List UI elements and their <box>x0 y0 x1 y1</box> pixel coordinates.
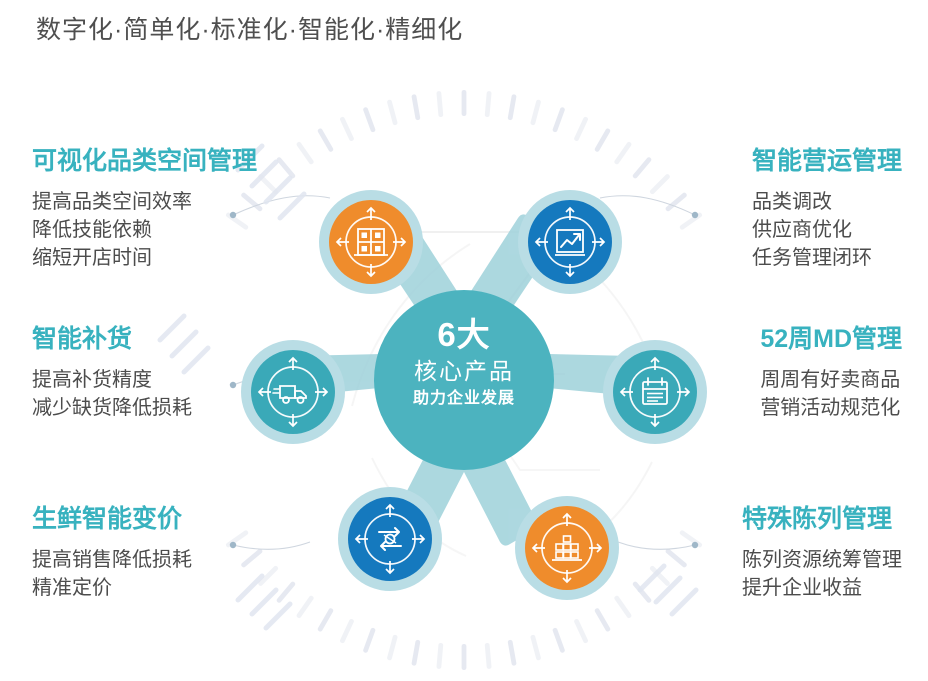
info-block-fifty-two-week-md[interactable]: 52周MD管理 周周有好卖商品 营销活动规范化 <box>760 326 902 422</box>
node-halo <box>241 340 345 444</box>
center-hub[interactable] <box>374 290 554 470</box>
block-line: 减少缺货降低损耗 <box>32 394 192 422</box>
block-line: 提升企业收益 <box>742 574 902 602</box>
node-circle <box>525 506 609 590</box>
node-smart-operations[interactable] <box>518 190 622 294</box>
block-line: 任务管理闭环 <box>752 244 902 272</box>
trend-chart-icon <box>536 208 604 276</box>
info-block-special-display[interactable]: 特殊陈列管理 陈列资源统筹管理 提升企业收益 <box>742 506 902 602</box>
node-smart-replenishment[interactable] <box>241 340 345 444</box>
block-line: 品类调改 <box>752 188 902 216</box>
stacked-boxes-icon <box>533 514 601 582</box>
hub-line-2: 核心产品 <box>389 360 539 383</box>
node-halo <box>338 487 442 591</box>
hub-connectors <box>290 214 638 545</box>
hatch-decor-bottom-right <box>640 566 696 614</box>
node-halo <box>603 340 707 444</box>
node-circle <box>613 350 697 434</box>
hub-line-1: 6大 <box>389 318 539 351</box>
block-line: 提高补货精度 <box>32 366 192 394</box>
page-title: 数字化·简单化·标准化·智能化·精细化 <box>36 10 463 46</box>
node-circle <box>251 350 335 434</box>
node-visual-category-space[interactable] <box>319 190 423 294</box>
info-block-smart-replenishment[interactable]: 智能补货 提高补货精度 减少缺货降低损耗 <box>32 326 192 422</box>
node-fifty-two-week-md[interactable] <box>603 340 707 444</box>
shelf-planogram-icon <box>337 208 405 276</box>
node-circle <box>528 200 612 284</box>
block-line: 周周有好卖商品 <box>760 366 902 394</box>
delivery-truck-icon <box>259 358 327 426</box>
block-lines: 提高品类空间效率 降低技能依赖 缩短开店时间 <box>32 188 257 273</box>
block-line: 陈列资源统筹管理 <box>742 546 902 574</box>
block-line: 降低技能依赖 <box>32 216 257 244</box>
block-lines: 周周有好卖商品 营销活动规范化 <box>760 366 902 423</box>
node-halo <box>518 190 622 294</box>
node-halo <box>319 190 423 294</box>
label-connector-lines <box>233 196 695 550</box>
block-lines: 陈列资源统筹管理 提升企业收益 <box>742 546 902 603</box>
block-line: 缩短开店时间 <box>32 244 257 272</box>
block-lines: 品类调改 供应商优化 任务管理闭环 <box>752 188 902 273</box>
block-lines: 提高销售降低损耗 精准定价 <box>32 546 192 603</box>
block-title: 可视化品类空间管理 <box>32 148 257 176</box>
node-circle <box>348 497 432 581</box>
connector-dots <box>230 212 698 548</box>
block-title: 52周MD管理 <box>760 326 902 354</box>
block-line: 营销活动规范化 <box>760 394 902 422</box>
block-line: 精准定价 <box>32 574 192 602</box>
hatch-decor-bottom-left <box>238 576 290 628</box>
node-special-display[interactable] <box>515 496 619 600</box>
block-line: 提高品类空间效率 <box>32 188 257 216</box>
tick-ring <box>225 90 703 670</box>
node-circle <box>329 200 413 284</box>
price-exchange-icon <box>356 505 424 573</box>
block-title: 智能营运管理 <box>752 148 902 176</box>
block-line: 提高销售降低损耗 <box>32 546 192 574</box>
info-block-fresh-smart-pricing[interactable]: 生鲜智能变价 提高销售降低损耗 精准定价 <box>32 506 192 602</box>
info-block-smart-operations[interactable]: 智能营运管理 品类调改 供应商优化 任务管理闭环 <box>752 148 902 273</box>
block-title: 智能补货 <box>32 326 192 354</box>
hub-line-3: 助力企业发展 <box>389 391 539 407</box>
hub-circle <box>374 290 554 470</box>
block-title: 特殊陈列管理 <box>742 506 902 534</box>
block-title: 生鲜智能变价 <box>32 506 192 534</box>
calendar-icon <box>621 358 689 426</box>
hub-label-group: 6大 核心产品 助力企业发展 <box>389 318 539 407</box>
node-fresh-smart-pricing[interactable] <box>338 487 442 591</box>
node-halo <box>515 496 619 600</box>
block-line: 供应商优化 <box>752 216 902 244</box>
watermark-shape <box>352 232 664 556</box>
block-lines: 提高补货精度 减少缺货降低损耗 <box>32 366 192 423</box>
info-block-visual-category-space[interactable]: 可视化品类空间管理 提高品类空间效率 降低技能依赖 缩短开店时间 <box>32 148 257 273</box>
